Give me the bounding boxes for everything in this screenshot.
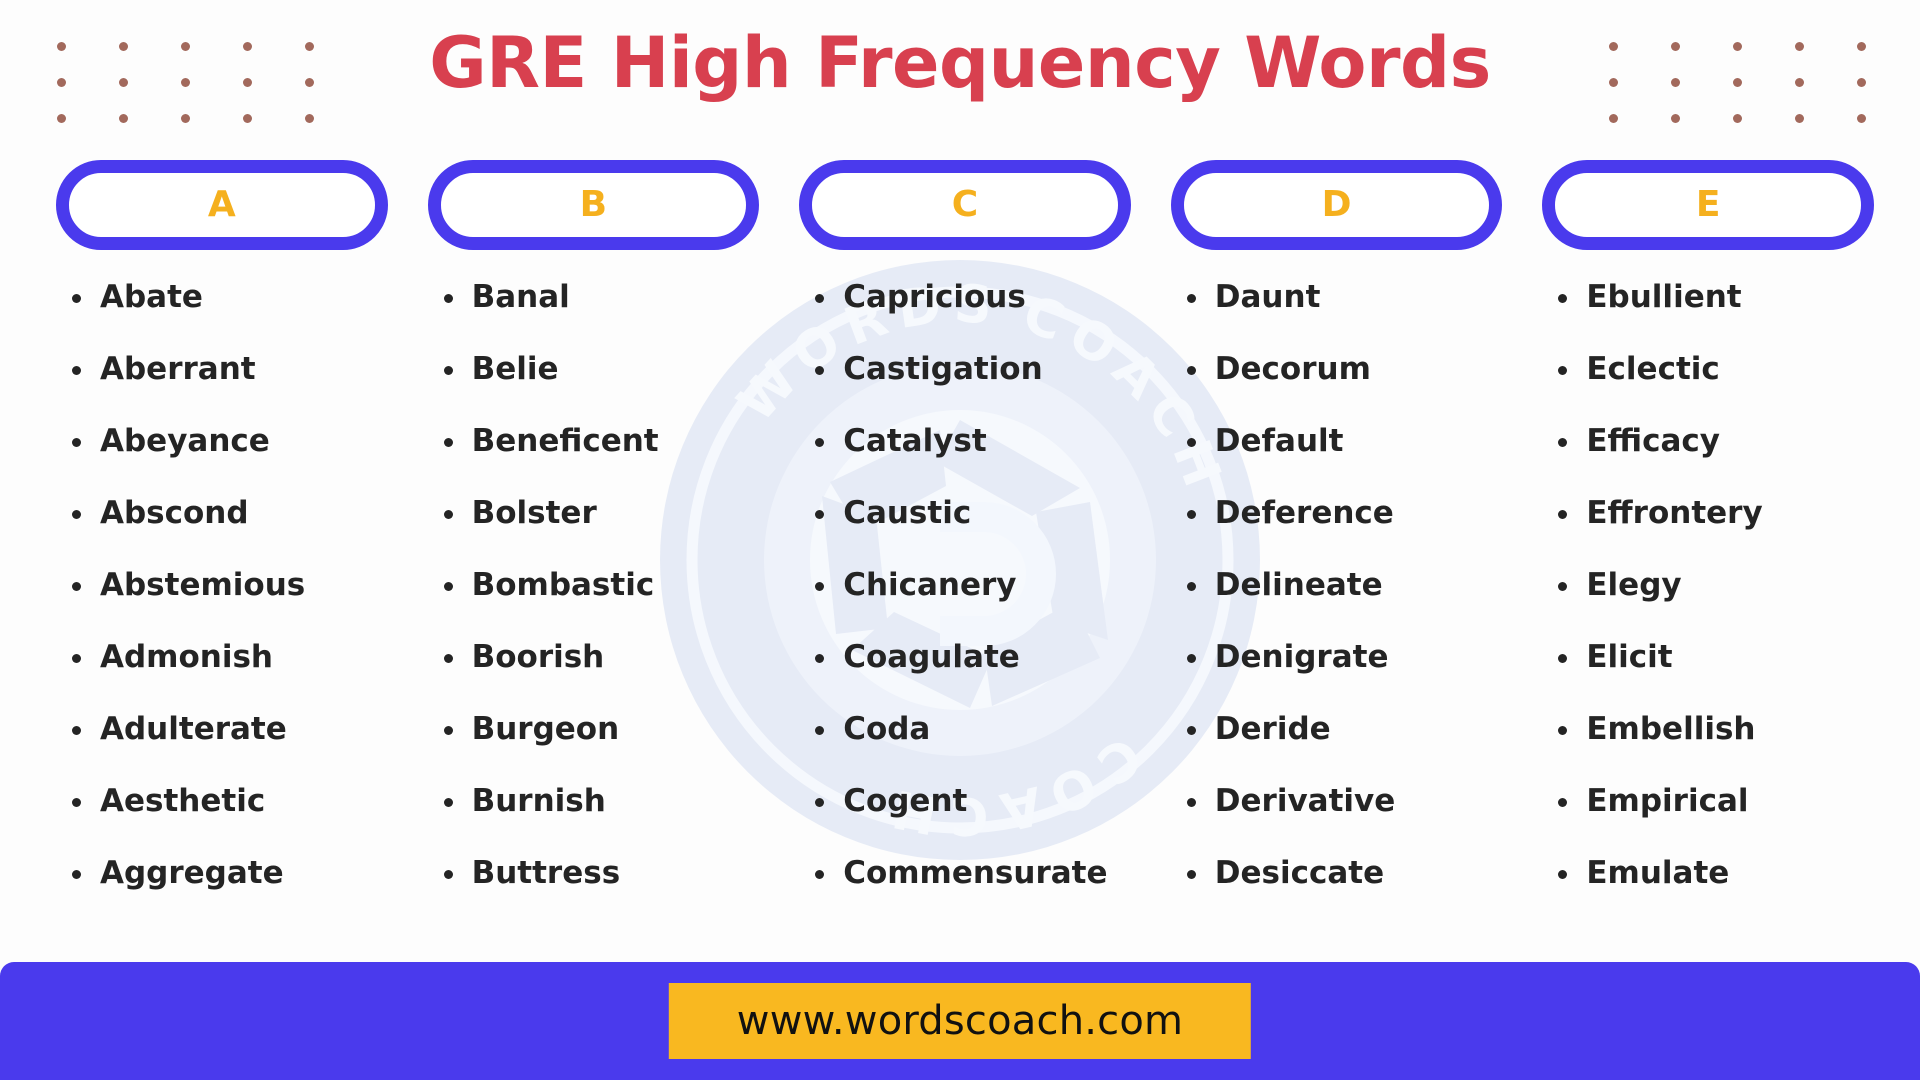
letter-label: D [1322,187,1352,223]
letter-label: C [952,187,978,223]
decorative-dot [1609,114,1618,123]
word-item[interactable]: Catalyst [841,426,1131,457]
word-item[interactable]: Chicanery [841,570,1131,601]
decorative-dot [181,114,190,123]
website-url[interactable]: www.wordscoach.com [669,983,1251,1059]
word-item[interactable]: Emulate [1584,858,1874,889]
word-item[interactable]: Capricious [841,282,1131,313]
letter-column-a: AAbateAberrantAbeyanceAbscondAbstemiousA… [56,160,388,889]
word-item[interactable]: Embellish [1584,714,1874,745]
word-item[interactable]: Caustic [841,498,1131,529]
word-item[interactable]: Decorum [1213,354,1503,385]
word-item[interactable]: Denigrate [1213,642,1503,673]
word-item[interactable]: Abeyance [98,426,388,457]
letter-header-e[interactable]: E [1542,160,1874,250]
word-item[interactable]: Cogent [841,786,1131,817]
word-item[interactable]: Admonish [98,642,388,673]
letter-column-e: EEbullientEclecticEfficacyEffronteryEleg… [1542,160,1874,889]
letter-label: E [1696,187,1721,223]
footer-bar: www.wordscoach.com [0,962,1920,1080]
word-item[interactable]: Burnish [470,786,760,817]
word-item[interactable]: Daunt [1213,282,1503,313]
word-list-c: CapriciousCastigationCatalystCausticChic… [799,282,1131,889]
decorative-dot [1733,114,1742,123]
word-item[interactable]: Delineate [1213,570,1503,601]
word-item[interactable]: Ebullient [1584,282,1874,313]
word-columns: AAbateAberrantAbeyanceAbscondAbstemiousA… [56,160,1874,889]
poster-root: WORDS COACH COACH GRE High Frequency Wor… [0,0,1920,1080]
word-item[interactable]: Eclectic [1584,354,1874,385]
letter-header-c[interactable]: C [799,160,1131,250]
word-item[interactable]: Deride [1213,714,1503,745]
word-list-a: AbateAberrantAbeyanceAbscondAbstemiousAd… [56,282,388,889]
decorative-dot [1857,114,1866,123]
page-title: GRE High Frequency Words [413,24,1507,102]
letter-header-a[interactable]: A [56,160,388,250]
decorative-dot [305,114,314,123]
word-item[interactable]: Effrontery [1584,498,1874,529]
word-item[interactable]: Abate [98,282,388,313]
word-item[interactable]: Buttress [470,858,760,889]
letter-label: B [580,187,607,223]
letter-column-d: DDauntDecorumDefaultDeferenceDelineateDe… [1171,160,1503,889]
word-item[interactable]: Belie [470,354,760,385]
word-item[interactable]: Bolster [470,498,760,529]
word-item[interactable]: Derivative [1213,786,1503,817]
word-item[interactable]: Boorish [470,642,760,673]
letter-column-b: BBanalBelieBeneficentBolsterBombasticBoo… [428,160,760,889]
word-item[interactable]: Adulterate [98,714,388,745]
word-item[interactable]: Castigation [841,354,1131,385]
letter-label: A [208,187,236,223]
word-item[interactable]: Coagulate [841,642,1131,673]
word-item[interactable]: Aberrant [98,354,388,385]
word-item[interactable]: Commensurate [841,858,1131,889]
decorative-dot [119,114,128,123]
word-item[interactable]: Bombastic [470,570,760,601]
word-item[interactable]: Abstemious [98,570,388,601]
word-item[interactable]: Banal [470,282,760,313]
word-list-b: BanalBelieBeneficentBolsterBombasticBoor… [428,282,760,889]
word-item[interactable]: Aggregate [98,858,388,889]
word-item[interactable]: Empirical [1584,786,1874,817]
letter-column-c: CCapriciousCastigationCatalystCausticChi… [799,160,1131,889]
word-item[interactable]: Coda [841,714,1131,745]
word-item[interactable]: Deference [1213,498,1503,529]
word-item[interactable]: Default [1213,426,1503,457]
decorative-dot [1795,114,1804,123]
decorative-dot [1671,114,1680,123]
word-item[interactable]: Burgeon [470,714,760,745]
page-title-wrapper: GRE High Frequency Words [0,24,1920,102]
word-item[interactable]: Abscond [98,498,388,529]
word-list-d: DauntDecorumDefaultDeferenceDelineateDen… [1171,282,1503,889]
word-list-e: EbullientEclecticEfficacyEffronteryElegy… [1542,282,1874,889]
word-item[interactable]: Desiccate [1213,858,1503,889]
letter-header-d[interactable]: D [1171,160,1503,250]
word-item[interactable]: Elegy [1584,570,1874,601]
word-item[interactable]: Elicit [1584,642,1874,673]
decorative-dot [243,114,252,123]
decorative-dot [57,114,66,123]
word-item[interactable]: Efficacy [1584,426,1874,457]
letter-header-b[interactable]: B [428,160,760,250]
word-item[interactable]: Aesthetic [98,786,388,817]
word-item[interactable]: Beneficent [470,426,760,457]
